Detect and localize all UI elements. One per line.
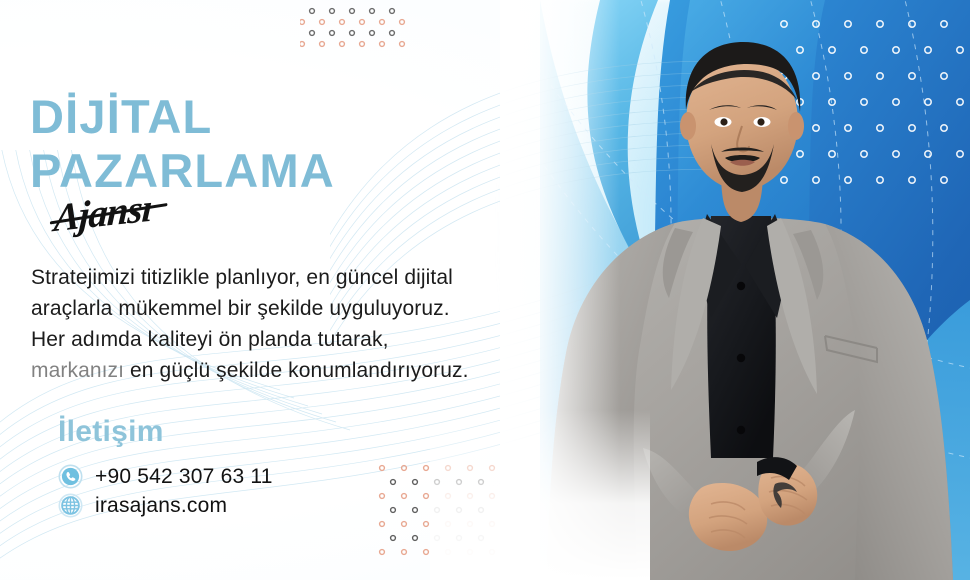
paragraph-line-4-rest: en güçlü şekilde konumlandırıyoruz. [124, 359, 468, 382]
globe-icon [58, 493, 83, 518]
headline-line-1: DİJİTAL [30, 90, 560, 144]
body-paragraph: Stratejimizi titizlikle planlıyor, en gü… [31, 262, 551, 386]
website-url: irasajans.com [95, 493, 227, 518]
contact-row-phone[interactable]: +90 542 307 63 11 [58, 464, 273, 489]
digital-marketing-banner: DİJİTAL PAZARLAMA Ajansı Stratejimizi ti… [0, 0, 970, 580]
phone-icon [58, 464, 83, 489]
paragraph-line-2: araçlarla mükemmel bir şekilde uyguluyor… [31, 293, 551, 324]
contact-row-website[interactable]: irasajans.com [58, 493, 227, 518]
contact-heading: İletişim [58, 415, 164, 449]
paragraph-line-3: Her adımda kaliteyi ön planda tutarak, [31, 324, 551, 355]
paragraph-faded-word: markanızı [31, 359, 124, 382]
headline-script-word: Ajansı [53, 186, 153, 242]
content-column: DİJİTAL PAZARLAMA Ajansı Stratejimizi ti… [30, 0, 570, 580]
paragraph-line-1: Stratejimizi titizlikle planlıyor, en gü… [31, 262, 551, 293]
phone-number: +90 542 307 63 11 [95, 464, 273, 489]
paragraph-line-4: markanızı en güçlü şekilde konumlandırıy… [31, 355, 551, 386]
headline-block: DİJİTAL PAZARLAMA [30, 90, 560, 198]
